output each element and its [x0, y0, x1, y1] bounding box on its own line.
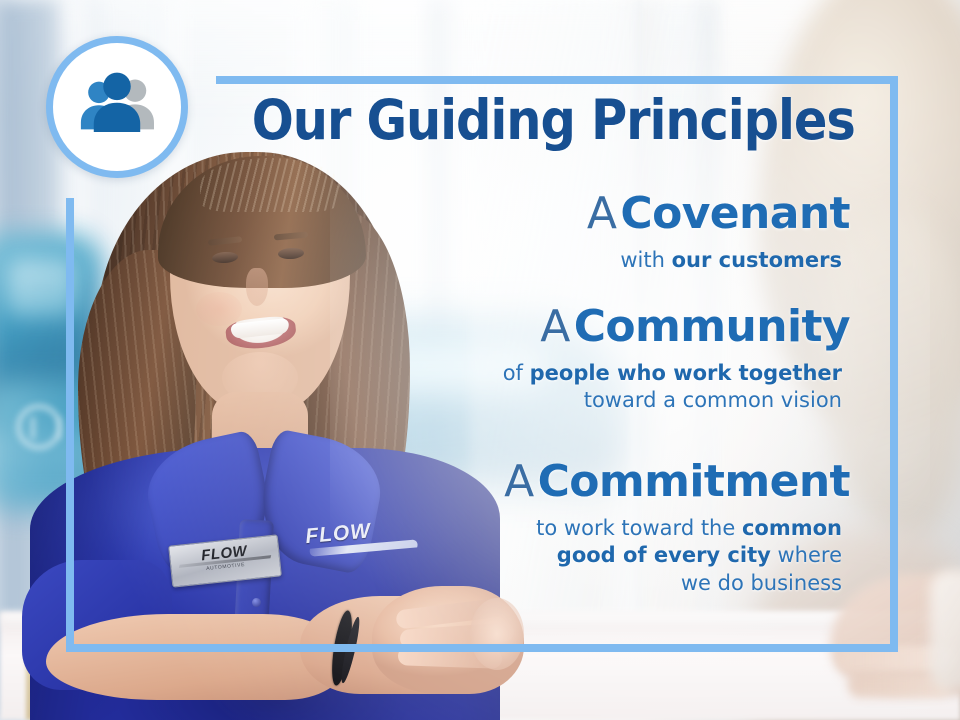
subtitle-run: we do business: [681, 571, 842, 595]
subtitle-run: with: [620, 248, 671, 272]
subtitle-line: with our customers: [0, 247, 842, 275]
subtitle-run-bold: common: [742, 516, 842, 540]
subtitle-run: toward a common vision: [584, 388, 842, 412]
principle-commitment: ACommitment to work toward the common go…: [0, 458, 898, 598]
subtitle-line: of people who work together: [0, 360, 842, 388]
poster-canvas: FLOW FLOW AUTOMOTIVE: [0, 0, 960, 720]
subtitle-line: good of every city where: [0, 542, 842, 570]
principle-article: A: [587, 188, 617, 239]
principle-heading: ACovenant: [0, 190, 898, 238]
subtitle-run: of: [503, 361, 530, 385]
subtitle-run: where: [771, 543, 842, 567]
subtitle-run: to work toward the: [536, 516, 742, 540]
subtitle-line: we do business: [0, 570, 842, 598]
principle-heading: ACommitment: [0, 458, 898, 506]
principle-covenant: ACovenant with our customers: [0, 190, 898, 274]
subtitle-line: toward a common vision: [0, 387, 842, 415]
principle-article: A: [540, 301, 570, 352]
principle-subtitle: of people who work together toward a com…: [0, 360, 898, 415]
subtitle-line: to work toward the common: [0, 515, 842, 543]
principle-keyword: Covenant: [620, 188, 850, 239]
page-title: Our Guiding Principles: [90, 92, 898, 148]
subtitle-run-bold: good of every city: [557, 543, 771, 567]
subtitle-run-bold: our customers: [672, 248, 842, 272]
principle-subtitle: with our customers: [0, 247, 898, 275]
subtitle-run-bold: people who work together: [530, 361, 842, 385]
principle-subtitle: to work toward the common good of every …: [0, 515, 898, 598]
principle-heading: ACommunity: [0, 303, 898, 351]
principle-article: A: [504, 456, 534, 507]
principle-keyword: Community: [574, 301, 850, 352]
principle-community: ACommunity of people who work together t…: [0, 303, 898, 415]
principle-keyword: Commitment: [538, 456, 850, 507]
copy-column: Our Guiding Principles ACovenant with ou…: [0, 0, 960, 720]
